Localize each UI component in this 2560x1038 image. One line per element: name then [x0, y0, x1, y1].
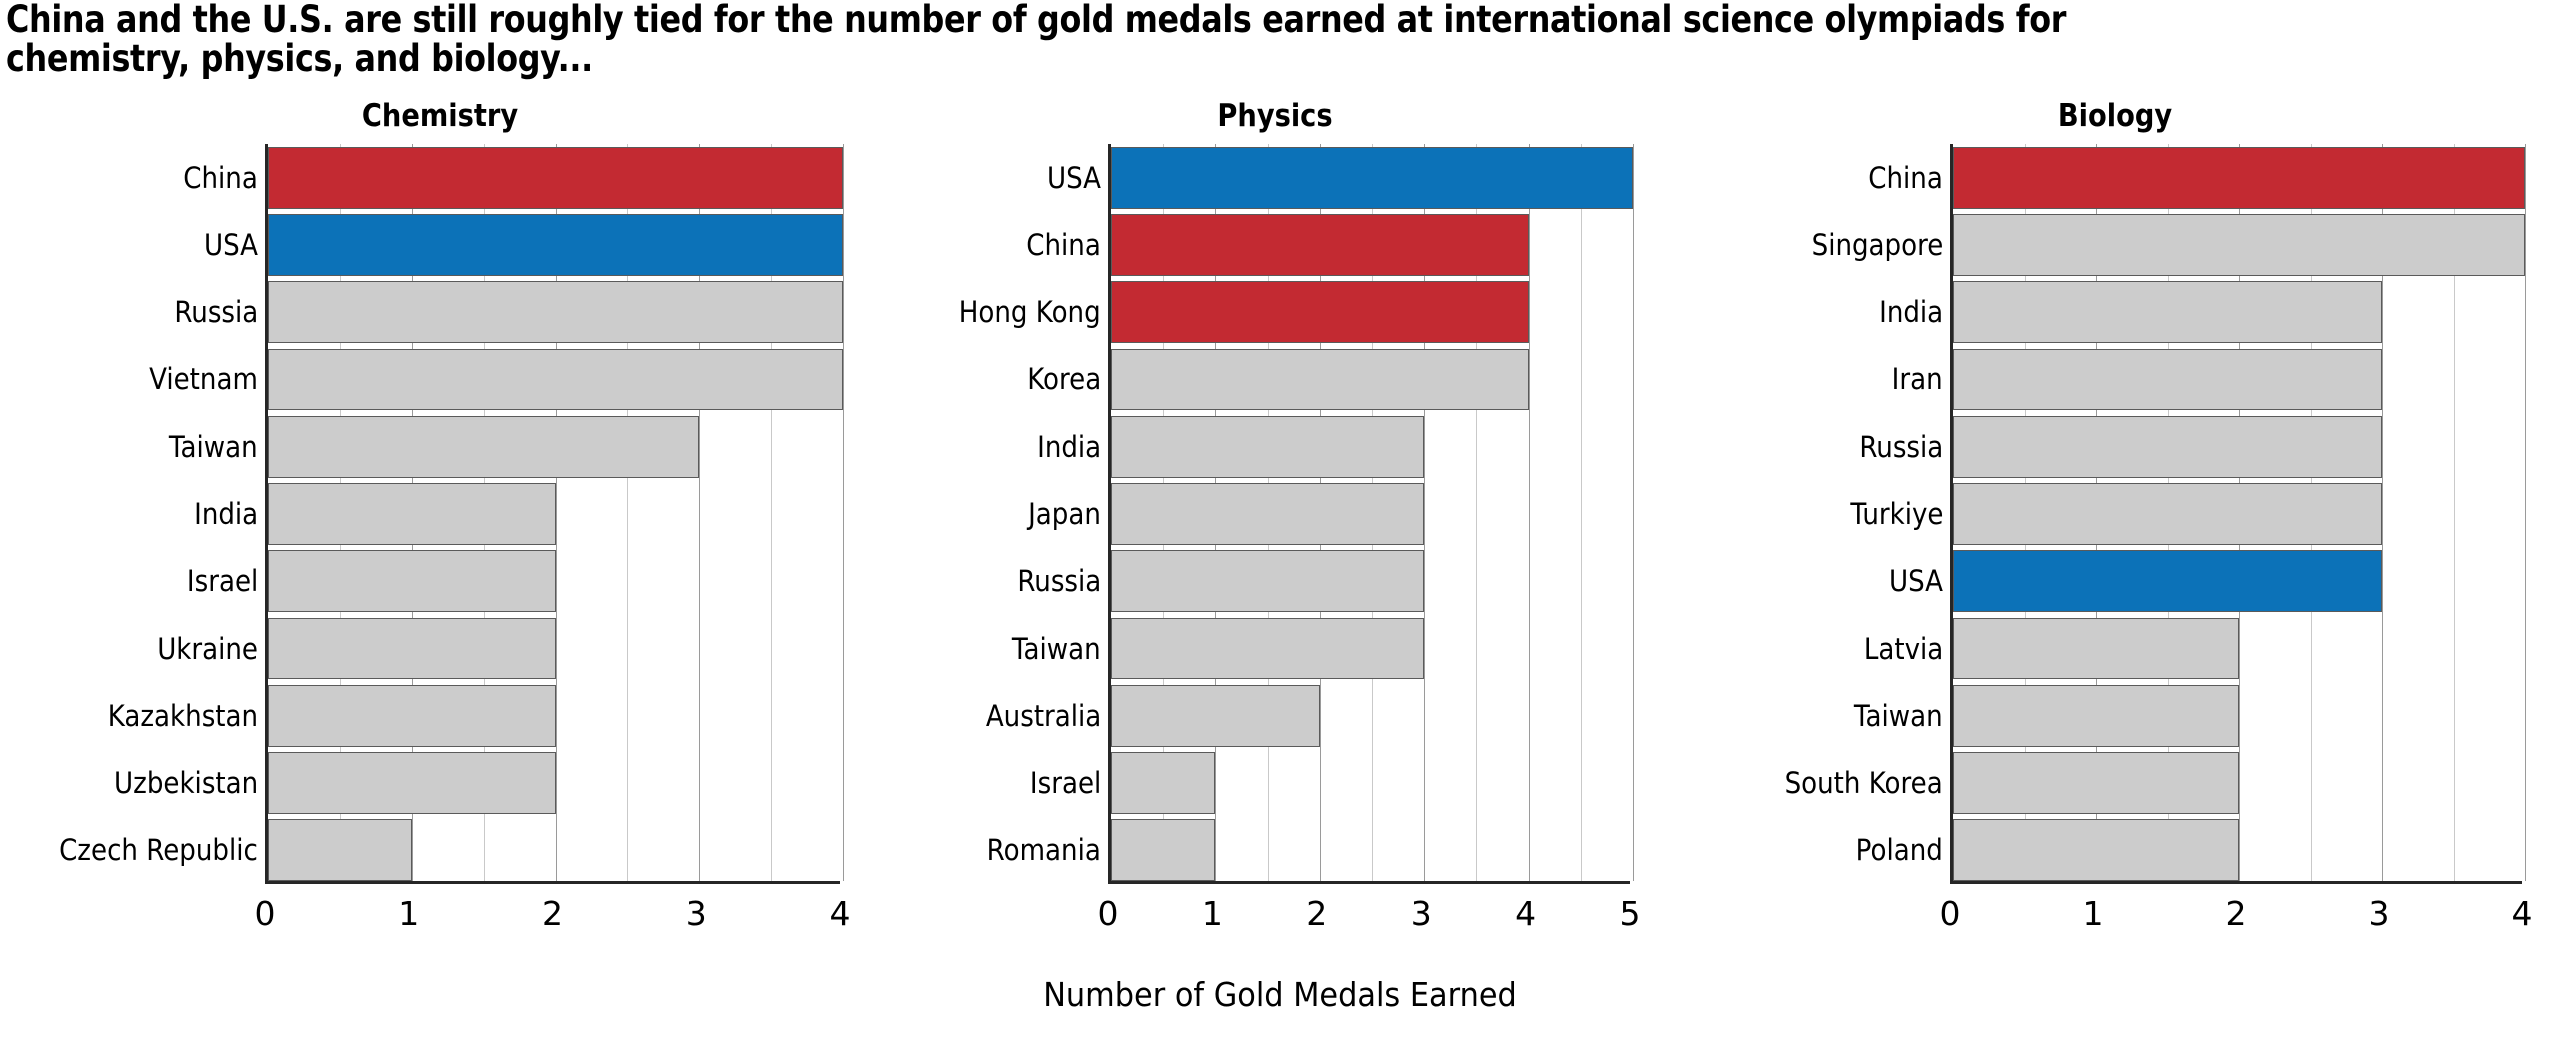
bar-row[interactable]: Taiwan	[268, 413, 840, 480]
x-tick-label: 2	[2206, 894, 2266, 933]
category-label: Russia	[1017, 564, 1101, 598]
category-label: China	[1868, 161, 1943, 195]
bar-poland[interactable]	[1953, 819, 2239, 881]
bar-row[interactable]: Israel	[268, 548, 840, 615]
bar-russia[interactable]	[268, 281, 843, 343]
plot-area: USAChinaHong KongKoreaIndiaJapanRussiaTa…	[1108, 144, 1630, 884]
bar-row[interactable]: USA	[268, 211, 840, 278]
category-label: USA	[1889, 564, 1943, 598]
category-label: Korea	[1027, 362, 1101, 396]
x-tick-label: 2	[1287, 894, 1347, 933]
category-label: China	[183, 161, 258, 195]
bar-india[interactable]	[1953, 281, 2382, 343]
category-label: Israel	[1030, 766, 1101, 800]
bar-row[interactable]: South Korea	[1953, 749, 2522, 816]
category-label: Taiwan	[169, 430, 258, 464]
x-tick-label: 0	[235, 894, 295, 933]
category-label: Uzbekistan	[114, 766, 258, 800]
category-label: Turkiye	[1850, 497, 1943, 531]
bar-row[interactable]: Israel	[1111, 749, 1630, 816]
bar-uzbekistan[interactable]	[268, 752, 556, 814]
bar-taiwan[interactable]	[1111, 618, 1424, 680]
x-tick-label: 2	[523, 894, 583, 933]
bar-row[interactable]: Russia	[1111, 548, 1630, 615]
bar-row[interactable]: India	[268, 480, 840, 547]
bar-row[interactable]: USA	[1953, 548, 2522, 615]
chart-title: Biology	[1723, 98, 2506, 134]
bar-row[interactable]: Ukraine	[268, 615, 840, 682]
bar-south-korea[interactable]	[1953, 752, 2239, 814]
bar-ukraine[interactable]	[268, 618, 556, 680]
category-label: Israel	[187, 564, 258, 598]
gridline-major	[1633, 144, 1634, 881]
category-label: USA	[1047, 161, 1101, 195]
category-label: Singapore	[1811, 228, 1943, 262]
category-label: Russia	[174, 295, 258, 329]
x-tick-label: 0	[1078, 894, 1138, 933]
bar-japan[interactable]	[1111, 483, 1424, 545]
category-label: Iran	[1892, 362, 1943, 396]
bar-row[interactable]: Latvia	[1953, 615, 2522, 682]
x-tick-label: 4	[1496, 894, 1556, 933]
bar-romania[interactable]	[1111, 819, 1215, 881]
category-label: India	[1037, 430, 1101, 464]
bar-row[interactable]: Turkiye	[1953, 480, 2522, 547]
chart-panel-biology: BiologyChinaSingaporeIndiaIranRussiaTurk…	[1670, 88, 2560, 968]
bar-usa[interactable]	[1953, 550, 2382, 612]
bar-china[interactable]	[1953, 147, 2525, 209]
bar-row[interactable]: Taiwan	[1953, 682, 2522, 749]
category-label: India	[1879, 295, 1943, 329]
bar-row[interactable]: China	[1111, 211, 1630, 278]
x-tick-label: 3	[1391, 894, 1451, 933]
x-tick-label: 4	[2492, 894, 2552, 933]
bar-israel[interactable]	[268, 550, 556, 612]
x-tick-label: 3	[666, 894, 726, 933]
chart-panel-chemistry: ChemistryChinaUSARussiaVietnamTaiwanIndi…	[0, 88, 880, 968]
category-label: Vietnam	[149, 362, 258, 396]
bar-row[interactable]: Japan	[1111, 480, 1630, 547]
bar-row[interactable]: Kazakhstan	[268, 682, 840, 749]
plot-area: ChinaSingaporeIndiaIranRussiaTurkiyeUSAL…	[1950, 144, 2522, 884]
gridline-major	[2525, 144, 2526, 881]
category-label: Taiwan	[1012, 632, 1101, 666]
bar-row[interactable]: Taiwan	[1111, 615, 1630, 682]
bar-vietnam[interactable]	[268, 349, 843, 411]
bar-row[interactable]: China	[1953, 144, 2522, 211]
bar-russia[interactable]	[1953, 416, 2382, 478]
bar-latvia[interactable]	[1953, 618, 2239, 680]
category-label: Latvia	[1864, 632, 1943, 666]
chart-title: Physics	[927, 98, 1622, 134]
bar-row[interactable]: Korea	[1111, 346, 1630, 413]
bar-row[interactable]: Romania	[1111, 817, 1630, 884]
category-label: South Korea	[1785, 766, 1943, 800]
bar-row[interactable]: Singapore	[1953, 211, 2522, 278]
bar-row[interactable]: Iran	[1953, 346, 2522, 413]
gridline-major	[843, 144, 844, 881]
bar-row[interactable]: USA	[1111, 144, 1630, 211]
bar-usa[interactable]	[1111, 147, 1633, 209]
x-tick-label: 5	[1600, 894, 1660, 933]
category-label: China	[1026, 228, 1101, 262]
chart-panel-physics: PhysicsUSAChinaHong KongKoreaIndiaJapanR…	[880, 88, 1670, 968]
page-title: China and the U.S. are still roughly tie…	[6, 0, 2197, 78]
bar-korea[interactable]	[1111, 349, 1529, 411]
charts-container: ChemistryChinaUSARussiaVietnamTaiwanIndi…	[0, 88, 2560, 968]
bar-row[interactable]: Uzbekistan	[268, 749, 840, 816]
bar-turkiye[interactable]	[1953, 483, 2382, 545]
bar-hong-kong[interactable]	[1111, 281, 1529, 343]
x-tick-label: 1	[2063, 894, 2123, 933]
x-tick-label: 4	[810, 894, 870, 933]
x-tick-label: 0	[1920, 894, 1980, 933]
category-label: India	[194, 497, 258, 531]
bar-row[interactable]: Australia	[1111, 682, 1630, 749]
x-tick-label: 3	[2349, 894, 2409, 933]
bar-singapore[interactable]	[1953, 214, 2525, 276]
category-label: Ukraine	[157, 632, 258, 666]
category-label: Taiwan	[1854, 699, 1943, 733]
bar-row[interactable]: China	[268, 144, 840, 211]
x-axis-label: Number of Gold Medals Earned	[102, 975, 2457, 1014]
bar-row[interactable]: Russia	[268, 279, 840, 346]
bar-taiwan[interactable]	[268, 416, 699, 478]
category-label: Kazakhstan	[108, 699, 258, 733]
chart-title: Chemistry	[53, 98, 827, 134]
bar-india[interactable]	[1111, 416, 1424, 478]
bar-china[interactable]	[1111, 214, 1529, 276]
category-label: Czech Republic	[59, 833, 258, 867]
bar-russia[interactable]	[1111, 550, 1424, 612]
category-label: Russia	[1859, 430, 1943, 464]
plot-area: ChinaUSARussiaVietnamTaiwanIndiaIsraelUk…	[265, 144, 840, 884]
bar-row[interactable]: India	[1953, 279, 2522, 346]
category-label: Romania	[987, 833, 1101, 867]
bar-row[interactable]: Czech Republic	[268, 817, 840, 884]
x-tick-label: 1	[379, 894, 439, 933]
category-label: Poland	[1856, 833, 1943, 867]
bar-iran[interactable]	[1953, 349, 2382, 411]
category-label: Hong Kong	[959, 295, 1101, 329]
category-label: Japan	[1028, 497, 1101, 531]
x-tick-label: 1	[1182, 894, 1242, 933]
bar-australia[interactable]	[1111, 685, 1320, 747]
bar-row[interactable]: Hong Kong	[1111, 279, 1630, 346]
bar-czech-republic[interactable]	[268, 819, 412, 881]
bar-row[interactable]: Russia	[1953, 413, 2522, 480]
bar-row[interactable]: India	[1111, 413, 1630, 480]
bar-usa[interactable]	[268, 214, 843, 276]
bar-india[interactable]	[268, 483, 556, 545]
category-label: USA	[204, 228, 258, 262]
bar-taiwan[interactable]	[1953, 685, 2239, 747]
bar-china[interactable]	[268, 147, 843, 209]
bar-kazakhstan[interactable]	[268, 685, 556, 747]
bar-row[interactable]: Vietnam	[268, 346, 840, 413]
bar-row[interactable]: Poland	[1953, 817, 2522, 884]
category-label: Australia	[986, 699, 1101, 733]
bar-israel[interactable]	[1111, 752, 1215, 814]
